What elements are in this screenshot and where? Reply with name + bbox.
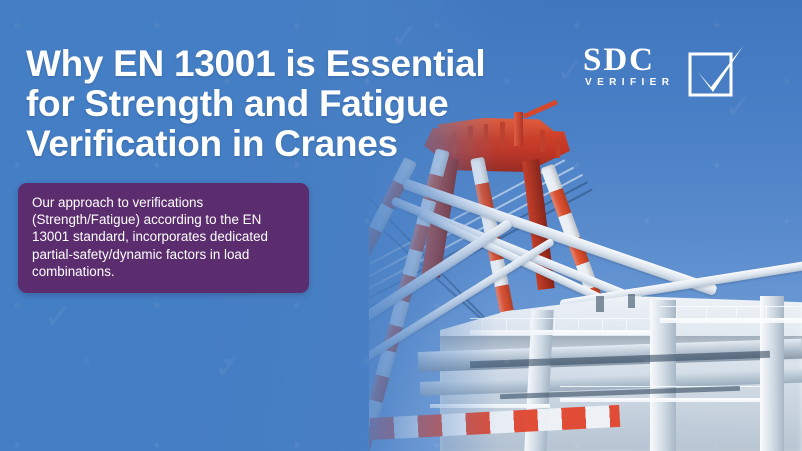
checkbox-check-icon bbox=[687, 45, 745, 97]
headline-line-1: Why EN 13001 is Essential bbox=[26, 44, 566, 84]
headline-line-3: Verification in Cranes bbox=[26, 124, 566, 164]
headline: Why EN 13001 is Essential for Strength a… bbox=[26, 44, 566, 164]
callout-text: Our approach to verifications (Strength/… bbox=[32, 195, 268, 279]
watermark-check-icon: ✓ bbox=[700, 268, 729, 302]
sdc-verifier-logo[interactable]: SDC VERIFIER bbox=[583, 44, 745, 106]
headline-line-2: for Strength and Fatigue bbox=[26, 84, 566, 124]
watermark-check-icon: ✓ bbox=[44, 300, 73, 334]
watermark-check-icon: ✓ bbox=[214, 350, 243, 384]
marketing-banner: ✓ ✓ ✓ ✓ ✓ ✓ Why EN 13001 is Essential fo… bbox=[0, 0, 802, 451]
callout-box: Our approach to verifications (Strength/… bbox=[18, 183, 309, 293]
logo-brand-text: SDC bbox=[583, 44, 655, 77]
logo-subtitle-text: VERIFIER bbox=[585, 77, 674, 88]
